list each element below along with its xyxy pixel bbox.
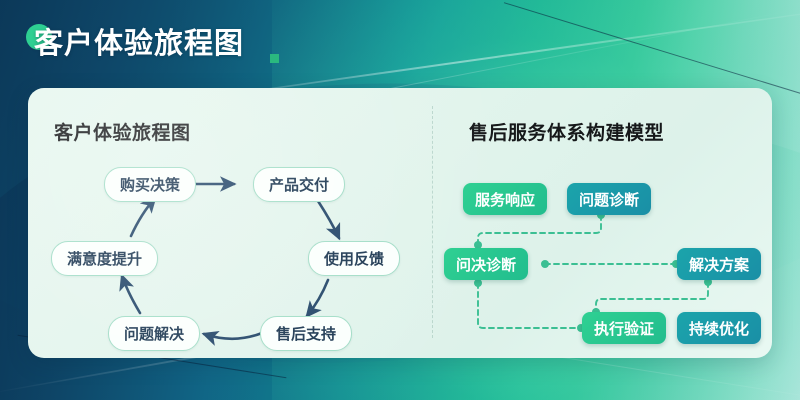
journey-arrows	[28, 88, 432, 358]
slide-canvas: 客户体验旅程图 客户体验旅程图	[0, 0, 800, 400]
panel-service-model: 售后服务体系构建模型	[433, 88, 772, 358]
journey-node-product-delivery[interactable]: 产品交付	[253, 167, 345, 202]
journey-node-satisfaction-lift[interactable]: 满意度提升	[51, 241, 158, 276]
content-card: 客户体验旅程图 购买决策 产品交付 使用反馈	[28, 88, 772, 358]
journey-node-after-sales-support[interactable]: 售后支持	[260, 316, 352, 351]
model-card-decision-diagnosis[interactable]: 问决诊断	[444, 248, 528, 280]
model-card-execution-validation[interactable]: 执行验证	[582, 312, 666, 344]
journey-node-usage-feedback[interactable]: 使用反馈	[308, 241, 400, 276]
model-card-solution[interactable]: 解决方案	[677, 248, 761, 280]
journey-node-purchase-decision[interactable]: 购买决策	[104, 167, 196, 202]
journey-node-issue-resolution[interactable]: 问题解决	[108, 316, 200, 351]
model-card-service-response[interactable]: 服务响应	[463, 183, 547, 215]
left-panel-title: 客户体验旅程图	[54, 118, 191, 145]
model-card-problem-diagnosis[interactable]: 问题诊断	[567, 183, 651, 215]
panel-customer-journey: 客户体验旅程图 购买决策 产品交付 使用反馈	[28, 88, 432, 358]
model-card-continuous-improve[interactable]: 持续优化	[677, 312, 761, 344]
page-title: 客户体验旅程图	[34, 24, 244, 64]
square-accent-icon	[270, 54, 279, 63]
